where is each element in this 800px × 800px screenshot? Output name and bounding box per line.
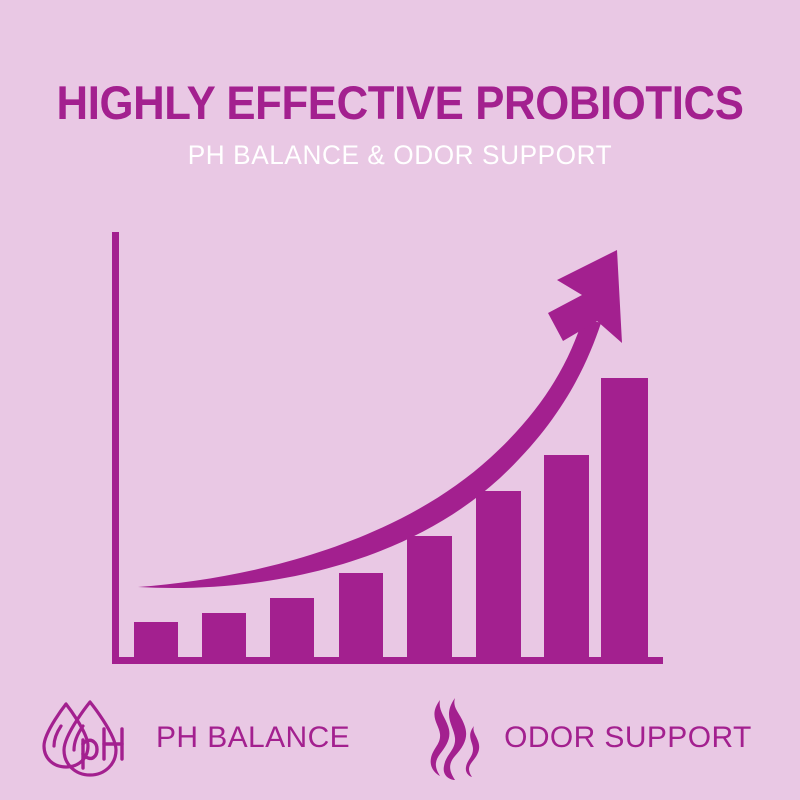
growth-chart-svg: [0, 210, 800, 680]
page-title: HIGHLY EFFECTIVE PROBIOTICS: [28, 78, 772, 128]
ph-droplet-icon: [36, 696, 132, 780]
bar-2: [202, 613, 246, 657]
y-axis-line: [112, 232, 119, 664]
feature-ph-balance: PH BALANCE: [36, 693, 350, 783]
chart-bars: [134, 378, 648, 657]
bar-4: [339, 573, 383, 657]
x-axis-line: [112, 657, 663, 664]
poster-canvas: HIGHLY EFFECTIVE PROBIOTICS PH BALANCE &…: [0, 0, 800, 800]
bar-1: [134, 622, 178, 657]
header: HIGHLY EFFECTIVE PROBIOTICS PH BALANCE &…: [0, 78, 800, 170]
bar-8: [601, 378, 648, 657]
bar-5: [407, 536, 452, 657]
odor-smoke-icon: [422, 696, 484, 780]
feature-ph-balance-label: PH BALANCE: [156, 722, 350, 754]
growth-chart: [0, 210, 800, 680]
page-subtitle: PH BALANCE & ODOR SUPPORT: [12, 140, 788, 170]
feature-row: PH BALANCE ODOR SUPPORT: [0, 690, 800, 785]
feature-odor-support: ODOR SUPPORT: [422, 693, 752, 783]
feature-odor-support-label: ODOR SUPPORT: [504, 722, 752, 754]
bar-3: [270, 598, 314, 657]
bar-7: [544, 455, 589, 657]
growth-curve: [138, 318, 601, 588]
bar-6: [476, 491, 521, 657]
